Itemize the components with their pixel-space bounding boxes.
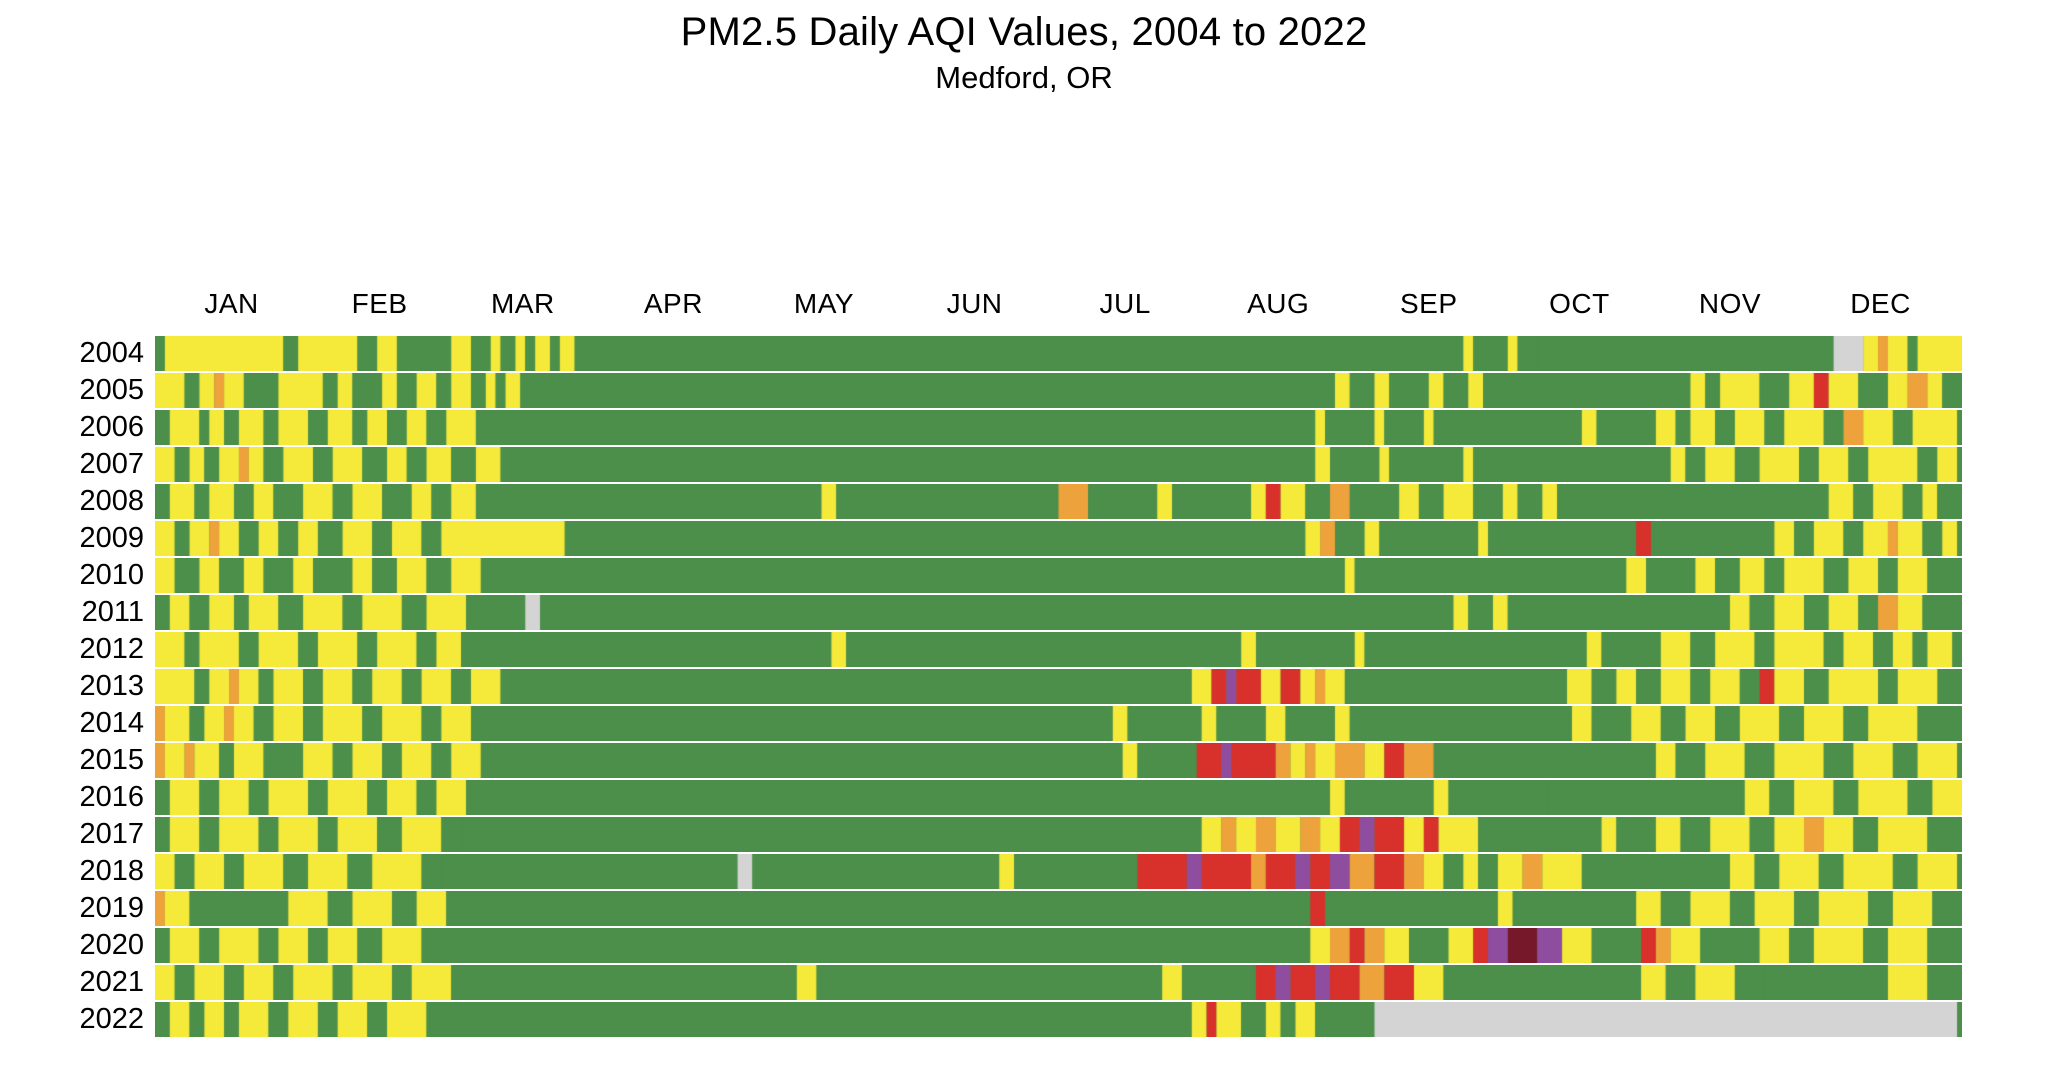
year-label-2022: 2022 <box>79 1005 144 1034</box>
heatmap-row <box>155 595 1962 630</box>
heatmap-row <box>155 410 1962 445</box>
heatmap-row <box>155 817 1962 852</box>
heatmap-row <box>155 928 1962 963</box>
heatmap-row <box>155 447 1962 482</box>
month-label-dec: DEC <box>1804 288 1957 320</box>
chart-subtitle: Medford, OR <box>0 59 2048 96</box>
year-label-2009: 2009 <box>79 524 144 553</box>
heatmap-row <box>155 854 1962 889</box>
year-label-2005: 2005 <box>79 376 144 405</box>
month-label-may: MAY <box>747 288 900 320</box>
year-label-2013: 2013 <box>79 672 144 701</box>
heatmap-row <box>155 780 1962 815</box>
heatmap-row <box>155 632 1962 667</box>
month-label-aug: AUG <box>1202 288 1355 320</box>
year-label-2006: 2006 <box>79 413 144 442</box>
year-label-2012: 2012 <box>79 635 144 664</box>
month-label-jun: JUN <box>901 288 1049 320</box>
year-label-2015: 2015 <box>79 746 144 775</box>
year-label-2007: 2007 <box>79 450 144 479</box>
heatmap-row <box>155 706 1962 741</box>
chart-title: PM2.5 Daily AQI Values, 2004 to 2022 <box>0 10 2048 55</box>
year-label-2016: 2016 <box>79 783 144 812</box>
y-axis-year-labels: 2004200520062007200820092010201120122013… <box>0 336 150 1039</box>
month-label-sep: SEP <box>1355 288 1503 320</box>
month-label-jul: JUL <box>1049 288 1202 320</box>
year-label-2021: 2021 <box>79 968 144 997</box>
month-label-oct: OCT <box>1503 288 1656 320</box>
year-label-2014: 2014 <box>79 709 144 738</box>
year-label-2020: 2020 <box>79 931 144 960</box>
heatmap-row <box>155 373 1962 408</box>
year-label-2008: 2008 <box>79 487 144 516</box>
year-label-2011: 2011 <box>82 598 144 627</box>
year-label-2018: 2018 <box>79 857 144 886</box>
year-label-2019: 2019 <box>79 894 144 923</box>
heatmap-row <box>155 558 1962 593</box>
heatmap-row <box>155 1002 1962 1037</box>
month-label-feb: FEB <box>308 288 451 320</box>
month-label-jan: JAN <box>155 288 308 320</box>
month-label-nov: NOV <box>1656 288 1804 320</box>
year-label-2017: 2017 <box>79 820 144 849</box>
aqi-heatmap <box>155 336 1962 1039</box>
x-axis-month-labels: JANFEBMARAPRMAYJUNJULAUGSEPOCTNOVDEC <box>155 288 1962 328</box>
year-label-2004: 2004 <box>79 339 144 368</box>
chart-titles: PM2.5 Daily AQI Values, 2004 to 2022 Med… <box>0 10 2048 96</box>
heatmap-row <box>155 521 1962 556</box>
heatmap-row <box>155 743 1962 778</box>
month-label-mar: MAR <box>446 288 599 320</box>
heatmap-row <box>155 965 1962 1000</box>
month-label-apr: APR <box>599 288 747 320</box>
heatmap-row <box>155 336 1962 371</box>
heatmap-row <box>155 891 1962 926</box>
heatmap-row <box>155 669 1962 704</box>
chart-page: PM2.5 Daily AQI Values, 2004 to 2022 Med… <box>0 0 2048 1082</box>
heatmap-row <box>155 484 1962 519</box>
year-label-2010: 2010 <box>79 561 144 590</box>
